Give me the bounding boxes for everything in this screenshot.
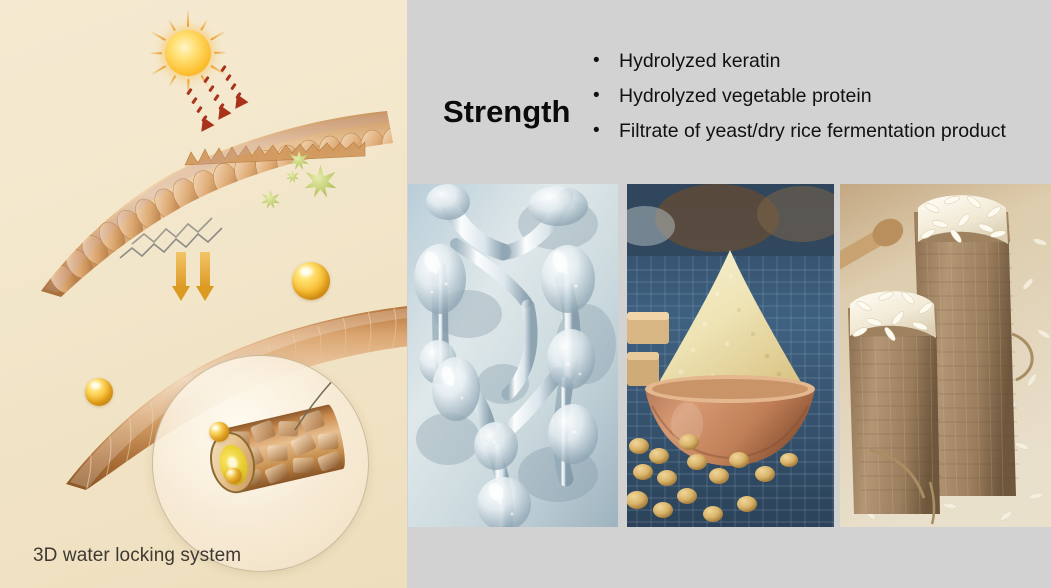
photo-water-droplets	[408, 184, 618, 527]
bullet-marker-icon: •	[587, 85, 619, 107]
magnifier-pointer-line	[261, 356, 361, 456]
bullet-marker-icon: •	[587, 50, 619, 72]
bullet-text: Hydrolyzed keratin	[619, 50, 780, 72]
content-panel: Strength • Hydrolyzed keratin • Hydrolyz…	[407, 0, 1051, 588]
bullet-marker-icon: •	[587, 120, 619, 142]
illustration-caption: 3D water locking system	[33, 545, 241, 567]
slide-canvas: 3D water locking system Strength • Hydro…	[0, 0, 1051, 588]
bullet-text: Filtrate of yeast/dry rice fermentation …	[619, 120, 1006, 142]
photo-protein-powder	[627, 184, 834, 527]
benefits-bullet-list: • Hydrolyzed keratin • Hydrolyzed vegeta…	[587, 50, 1042, 155]
bullet-text: Hydrolyzed vegetable protein	[619, 85, 872, 107]
hair-illustration-panel: 3D water locking system	[0, 0, 407, 588]
list-item: • Hydrolyzed vegetable protein	[587, 85, 1042, 107]
list-item: • Filtrate of yeast/dry rice fermentatio…	[587, 120, 1042, 142]
photo-strip	[408, 184, 1051, 527]
strength-heading: Strength	[443, 94, 570, 130]
photo-rice-sacks	[840, 184, 1051, 527]
hair-cross-section-magnifier	[152, 355, 369, 572]
list-item: • Hydrolyzed keratin	[587, 50, 1042, 72]
